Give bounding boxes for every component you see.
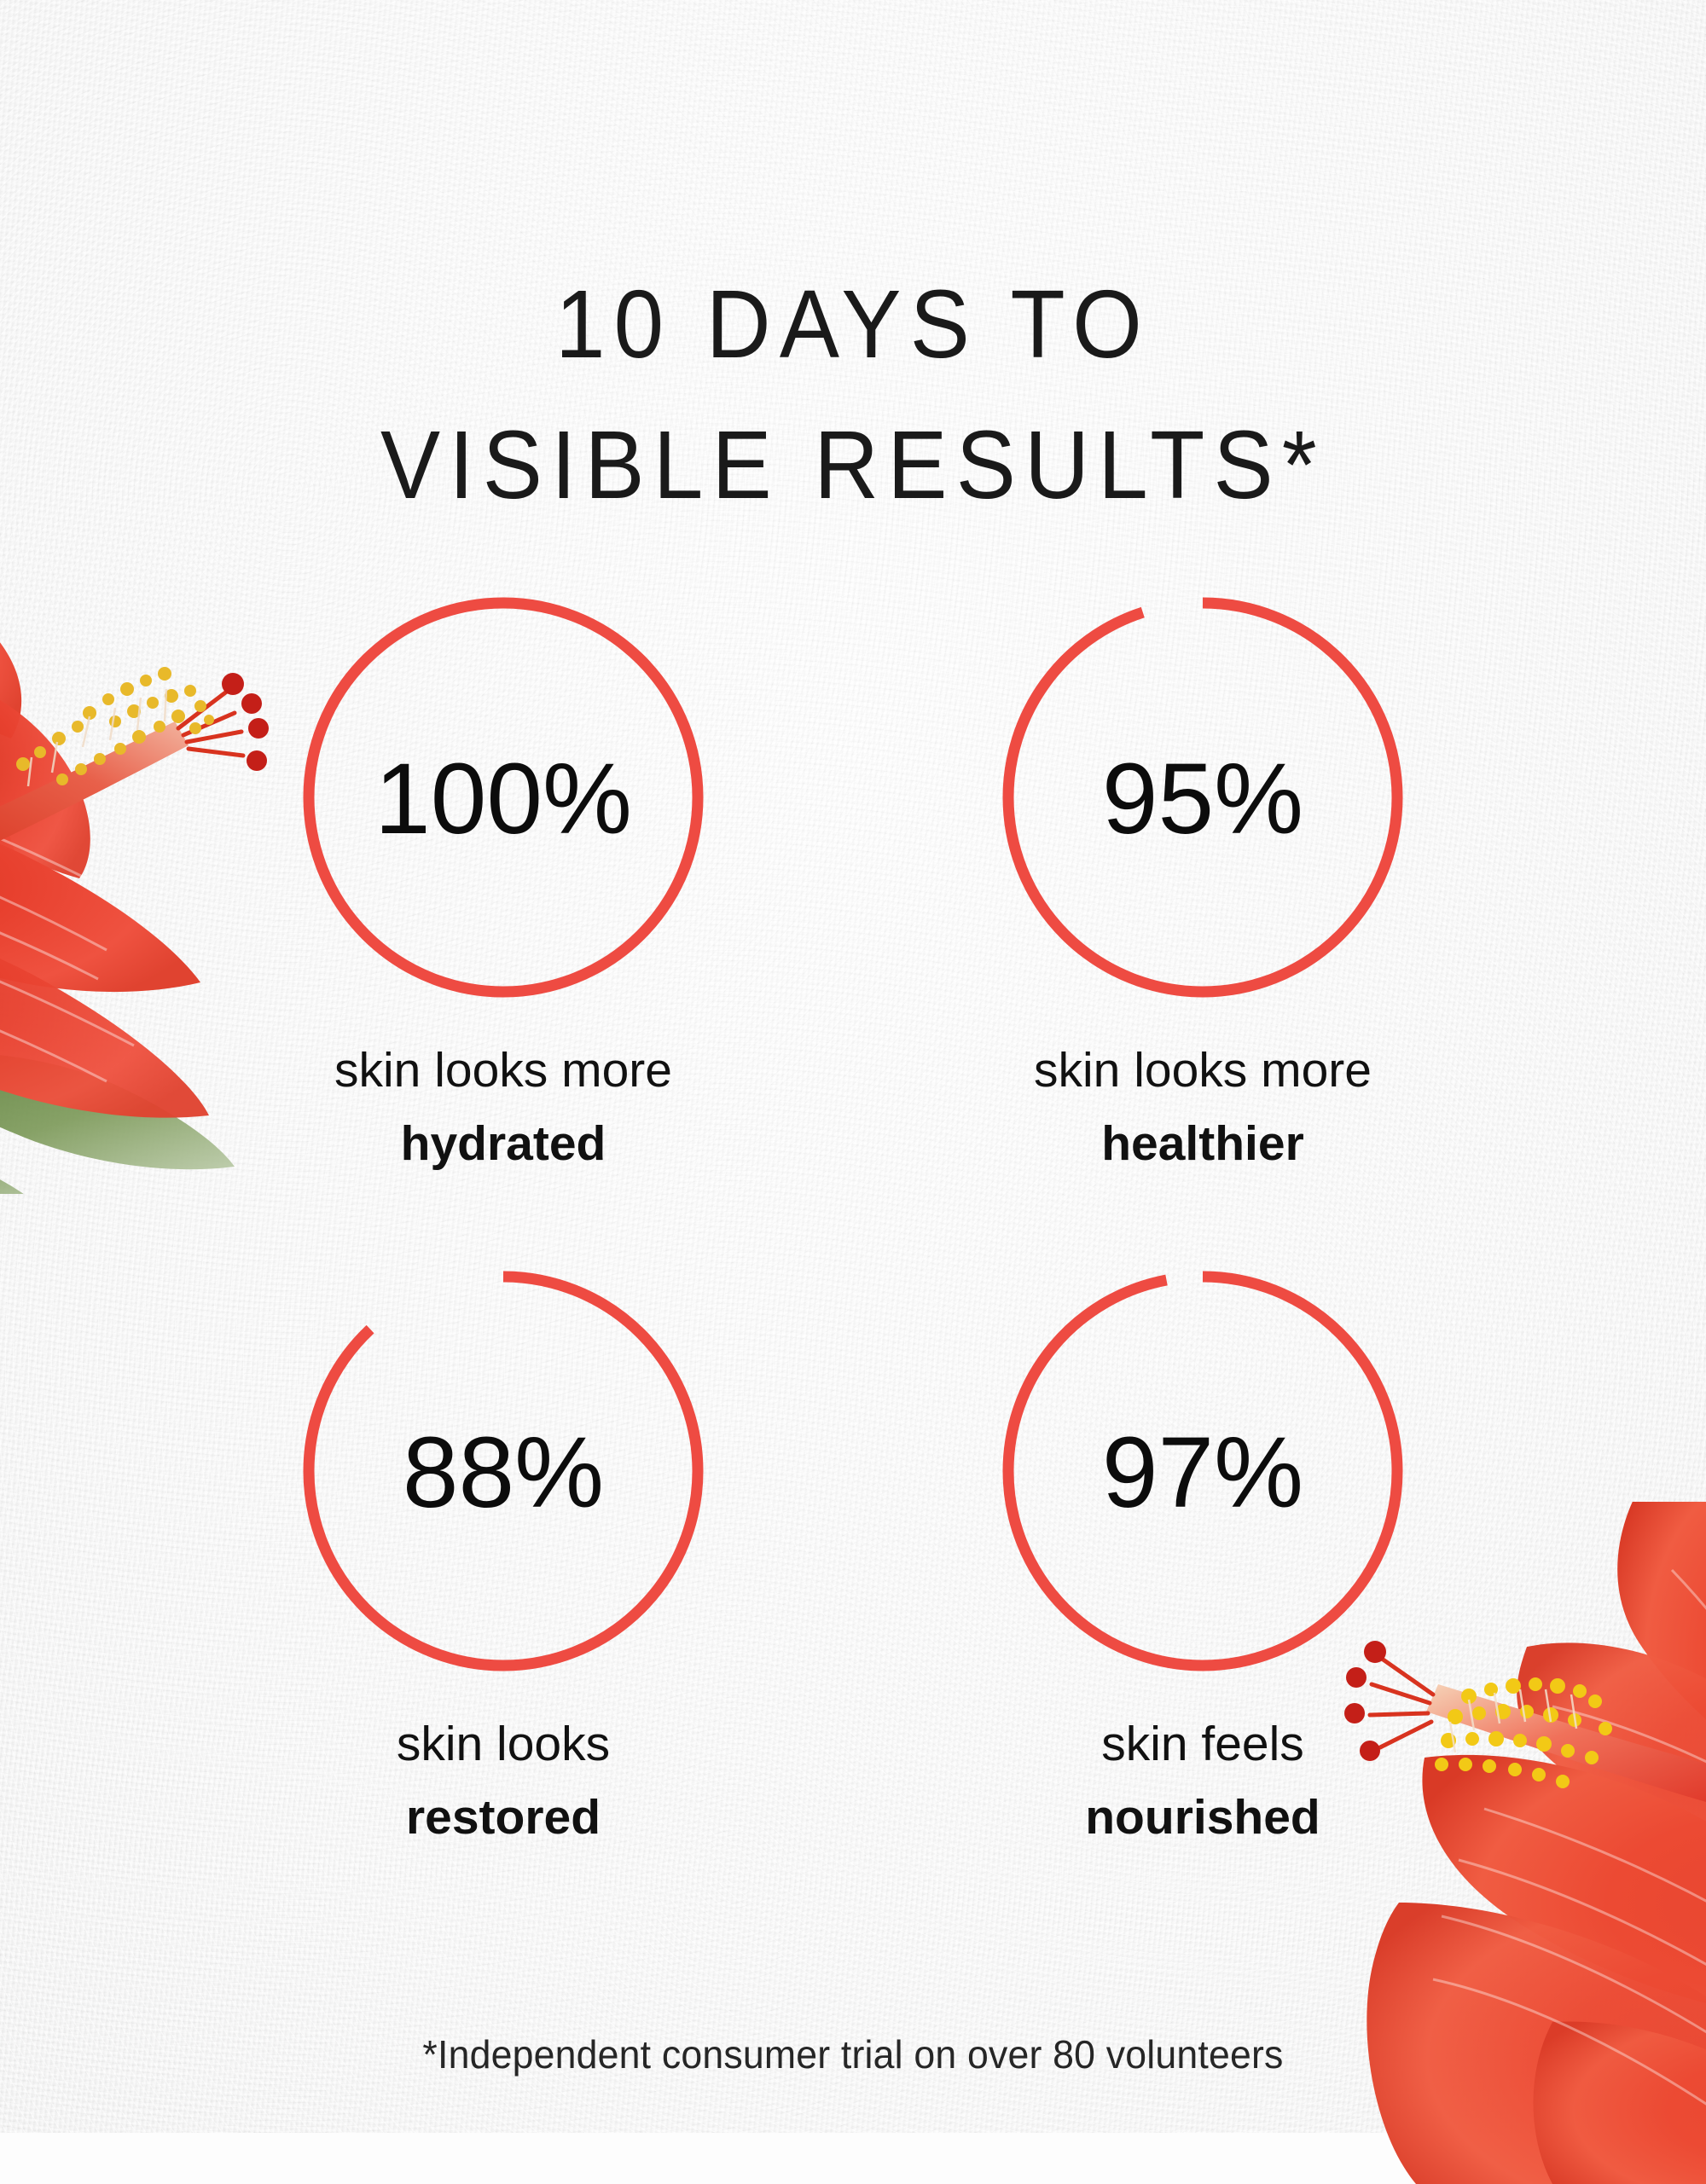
progress-ring-hydrated: 100% [303,597,704,998]
caption-line-1: skin looks more [1034,1039,1372,1102]
caption-line-2: healthier [1034,1112,1372,1175]
stat-value-hydrated: 100% [303,599,704,999]
stat-caption-nourished: skin feels nourished [1085,1712,1320,1849]
progress-ring-healthier: 95% [1002,597,1403,998]
progress-ring-restored: 88% [303,1271,704,1671]
caption-line-1: skin looks more [334,1039,672,1102]
caption-line-2: hydrated [334,1112,672,1175]
caption-line-2: restored [397,1786,610,1849]
stat-caption-hydrated: skin looks more hydrated [334,1039,672,1175]
title-line-2: VISIBLE RESULTS* [60,417,1646,513]
progress-ring-nourished: 97% [1002,1271,1403,1671]
stat-caption-healthier: skin looks more healthier [1034,1039,1372,1175]
footnote-text: *Independent consumer trial on over 80 v… [26,2031,1680,2077]
stat-card-nourished: 97% skin feels nourished [917,1271,1488,1849]
caption-line-1: skin feels [1085,1712,1320,1776]
stat-caption-restored: skin looks restored [397,1712,610,1849]
stat-card-restored: 88% skin looks restored [218,1271,789,1849]
title-line-1: 10 DAYS TO [60,276,1646,373]
stats-grid: 100% skin looks more hydrated 95% skin l… [218,597,1488,1849]
caption-line-2: nourished [1085,1786,1320,1849]
caption-line-1: skin looks [397,1712,610,1776]
stat-value-nourished: 97% [1002,1272,1403,1673]
stat-card-healthier: 95% skin looks more healthier [917,597,1488,1175]
stat-value-restored: 88% [303,1272,704,1673]
stat-value-healthier: 95% [1002,599,1403,999]
stat-card-hydrated: 100% skin looks more hydrated [218,597,789,1175]
page-title: 10 DAYS TO VISIBLE RESULTS* [60,276,1646,513]
